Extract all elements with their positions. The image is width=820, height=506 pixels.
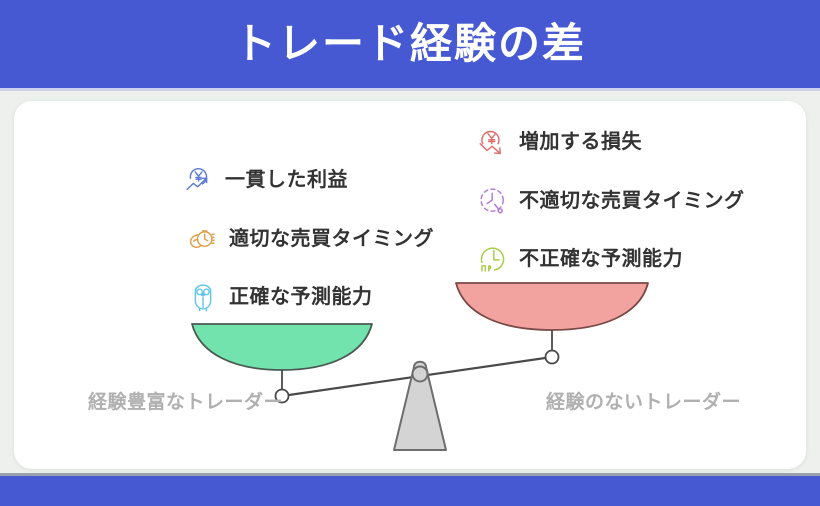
list-item-right-1-label: 増加する損失 bbox=[519, 132, 642, 152]
list-item-right-2: 不適切な売買タイミング bbox=[476, 184, 745, 218]
hand-stopwatch-icon bbox=[186, 222, 220, 256]
footer-bar bbox=[0, 476, 820, 506]
caption-inexperienced-trader: 経験のないトレーダー bbox=[546, 393, 741, 412]
header-bar: トレード経験の差 bbox=[0, 0, 820, 88]
pivot-joint bbox=[413, 367, 428, 382]
list-item-right-1: 増加する損失 bbox=[476, 125, 642, 159]
header-divider bbox=[0, 88, 820, 91]
balance-scale bbox=[150, 270, 670, 470]
right-pan bbox=[456, 283, 648, 330]
list-item-left-1-label: 一貫した利益 bbox=[225, 170, 348, 190]
right-beam-joint bbox=[546, 351, 559, 364]
left-pan bbox=[192, 324, 372, 370]
caption-experienced-trader: 経験豊富なトレーダー bbox=[88, 393, 283, 412]
list-item-right-2-label: 不適切な売買タイミング bbox=[519, 191, 745, 211]
list-item-left-2: 適切な売買タイミング bbox=[186, 222, 434, 256]
yen-down-arrow-icon bbox=[476, 125, 510, 159]
slide-root: トレード経験の差 一貫した利益 適切 bbox=[0, 0, 820, 506]
dashed-clock-icon bbox=[476, 184, 510, 218]
page-title: トレード経験の差 bbox=[234, 23, 586, 65]
list-item-right-3-label: 不正確な予測能力 bbox=[519, 249, 683, 269]
list-item-left-2-label: 適切な売買タイミング bbox=[229, 229, 434, 249]
yen-up-chart-icon bbox=[182, 163, 216, 197]
list-item-left-1: 一貫した利益 bbox=[182, 163, 348, 197]
